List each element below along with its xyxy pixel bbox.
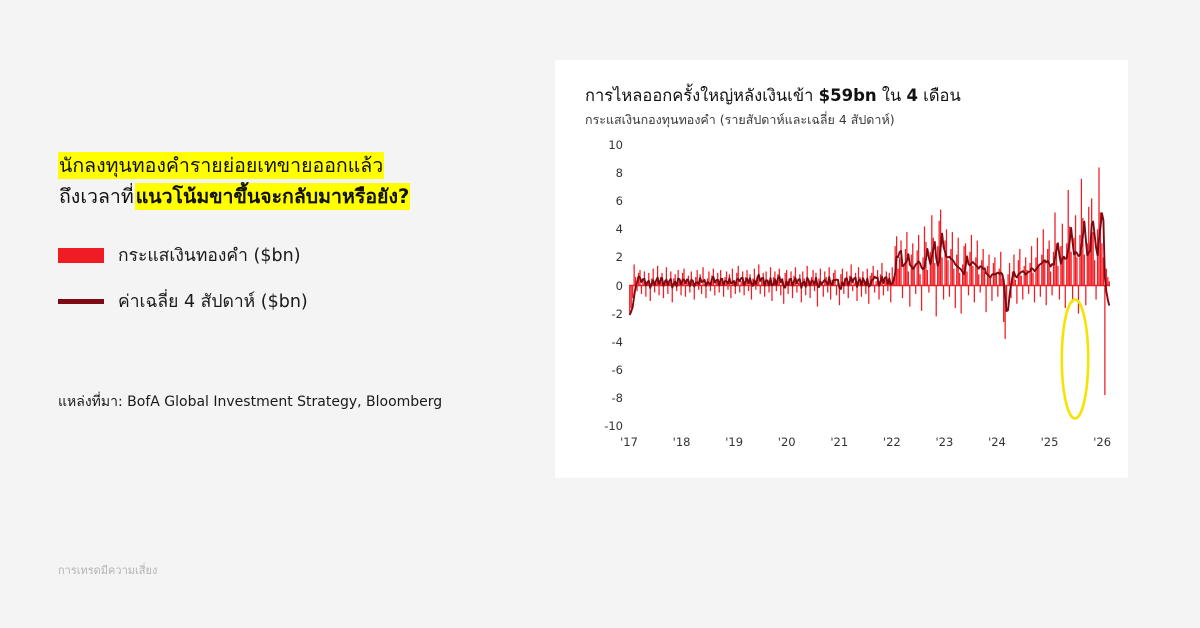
annotation-ellipse-icon bbox=[1060, 298, 1090, 420]
y-tick-4: 4 bbox=[616, 222, 623, 236]
chart-plot-area: 1086420-2-4-6-8-10 '17'18'19'20'21'22'23… bbox=[585, 145, 1110, 455]
y-tick-6: 6 bbox=[616, 194, 623, 208]
headline-line-1-segment-1: นักลงทุนทองคำรายย่อยเทขายออกแล้ว bbox=[58, 152, 384, 179]
legend-swatch-bar-wrapper bbox=[58, 248, 114, 263]
chart-title-part-5: เดือน bbox=[918, 86, 961, 105]
legend: กระแสเงินทองคำ ($bn) ค่าเฉลี่ย 4 สัปดาห์… bbox=[58, 238, 308, 330]
left-panel: นักลงทุนทองคำรายย่อยเทขายออกแล้ว ถึงเวลา… bbox=[0, 0, 540, 628]
legend-label-gold-flows: กระแสเงินทองคำ ($bn) bbox=[118, 241, 301, 269]
chart-title-part-3: ใน bbox=[877, 86, 907, 105]
headline-line-2-segment-2: แนวโน้มขาขึ้นจะกลับมาหรือยัง? bbox=[135, 183, 411, 210]
y-tick-neg4: -4 bbox=[612, 335, 623, 349]
y-axis-tick-labels: 1086420-2-4-6-8-10 bbox=[585, 145, 623, 426]
chart-svg bbox=[629, 145, 1110, 426]
headline-line-2: ถึงเวลาที่แนวโน้มขาขึ้นจะกลับมาหรือยัง? bbox=[58, 181, 498, 212]
x-tick-17: '17 bbox=[620, 435, 638, 449]
x-tick-19: '19 bbox=[725, 435, 743, 449]
slide-canvas: นักลงทุนทองคำรายย่อยเทขายออกแล้ว ถึงเวลา… bbox=[0, 0, 1200, 628]
y-tick-neg8: -8 bbox=[612, 391, 623, 405]
y-tick-neg10: -10 bbox=[604, 419, 623, 433]
x-tick-22: '22 bbox=[883, 435, 901, 449]
legend-item-4wk-average: ค่าเฉลี่ย 4 สัปดาห์ ($bn) bbox=[58, 284, 308, 318]
legend-swatch-bar bbox=[58, 248, 104, 263]
chart-card: การไหลออกครั้งใหญ่หลังเงินเข้า $59bn ใน … bbox=[555, 60, 1128, 478]
y-tick-8: 8 bbox=[616, 166, 623, 180]
legend-label-4wk-average: ค่าเฉลี่ย 4 สัปดาห์ ($bn) bbox=[118, 287, 308, 315]
chart-canvas bbox=[629, 145, 1110, 426]
chart-subtitle: กระแสเงินกองทุนทองคำ (รายสัปดาห์และเฉลี่… bbox=[585, 110, 895, 130]
y-tick-10: 10 bbox=[608, 138, 623, 152]
x-tick-26: '26 bbox=[1093, 435, 1111, 449]
chart-title: การไหลออกครั้งใหญ่หลังเงินเข้า $59bn ใน … bbox=[585, 83, 961, 109]
y-tick-neg2: -2 bbox=[612, 307, 623, 321]
headline-line-1: นักลงทุนทองคำรายย่อยเทขายออกแล้ว bbox=[58, 150, 498, 181]
legend-swatch-line-wrapper bbox=[58, 299, 114, 304]
x-axis-tick-labels: '17'18'19'20'21'22'23'24'25'26 bbox=[629, 435, 1110, 455]
y-tick-2: 2 bbox=[616, 250, 623, 264]
risk-disclaimer: การเทรดมีความเสี่ยง bbox=[58, 561, 157, 579]
headline: นักลงทุนทองคำรายย่อยเทขายออกแล้ว ถึงเวลา… bbox=[58, 150, 498, 212]
y-tick-0: 0 bbox=[616, 279, 623, 293]
legend-swatch-line bbox=[58, 299, 104, 304]
x-tick-25: '25 bbox=[1041, 435, 1059, 449]
x-tick-24: '24 bbox=[988, 435, 1006, 449]
chart-title-part-4: 4 bbox=[906, 86, 917, 105]
x-tick-21: '21 bbox=[830, 435, 848, 449]
chart-title-part-1: การไหลออกครั้งใหญ่หลังเงินเข้า bbox=[585, 86, 819, 105]
x-tick-18: '18 bbox=[673, 435, 691, 449]
x-tick-20: '20 bbox=[778, 435, 796, 449]
headline-line-2-segment-1: ถึงเวลาที่ bbox=[58, 183, 135, 210]
legend-item-gold-flows: กระแสเงินทองคำ ($bn) bbox=[58, 238, 308, 272]
chart-title-part-2: $59bn bbox=[819, 86, 877, 105]
x-tick-23: '23 bbox=[936, 435, 954, 449]
source-note: แหล่งที่มา: BofA Global Investment Strat… bbox=[58, 391, 442, 413]
y-tick-neg6: -6 bbox=[612, 363, 623, 377]
